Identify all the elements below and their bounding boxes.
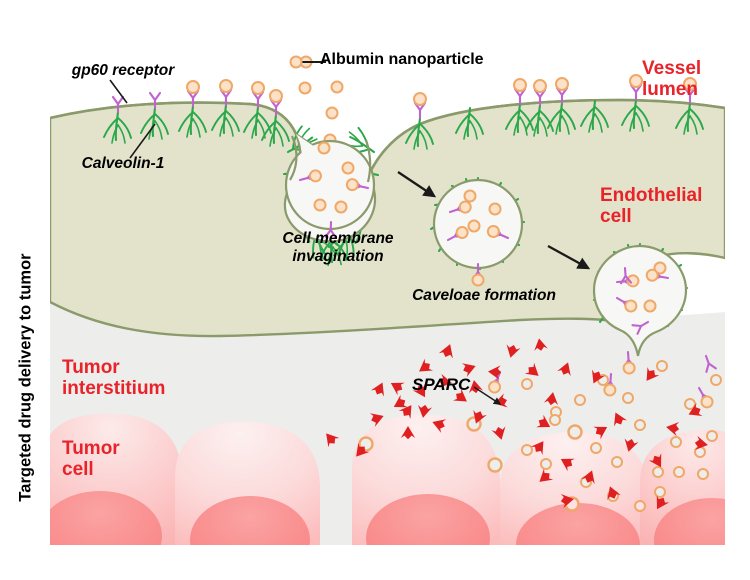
label-tumor-cell: Tumor cell [62,438,120,481]
label-albumin-nanoparticle: Albumin nanoparticle [320,51,484,69]
albumin-legend-marker [291,57,302,68]
label-caveolae-formation: Caveloae formation [404,287,564,305]
label-vessel-lumen: Vessel lumen [642,58,701,101]
figure-panel: Targeted drug delivery to tumor gp60 rec… [0,0,750,580]
label-gp60-receptor: gp60 receptor [58,62,188,80]
tumor-cell [352,415,500,580]
label-sparc: SPARC [412,375,470,394]
label-endothelial-cell: Endothelial cell [600,185,702,228]
label-cell-membrane-invagination: Cell membrane invagination [258,230,418,265]
label-tumor-interstitium: Tumor interstitium [62,357,165,400]
biological-diagram-canvas [0,0,750,580]
label-caveolin-1: Calveolin-1 [58,155,188,173]
tumor-cell [175,422,320,580]
vertical-axis-label: Targeted drug delivery to tumor [17,213,36,543]
